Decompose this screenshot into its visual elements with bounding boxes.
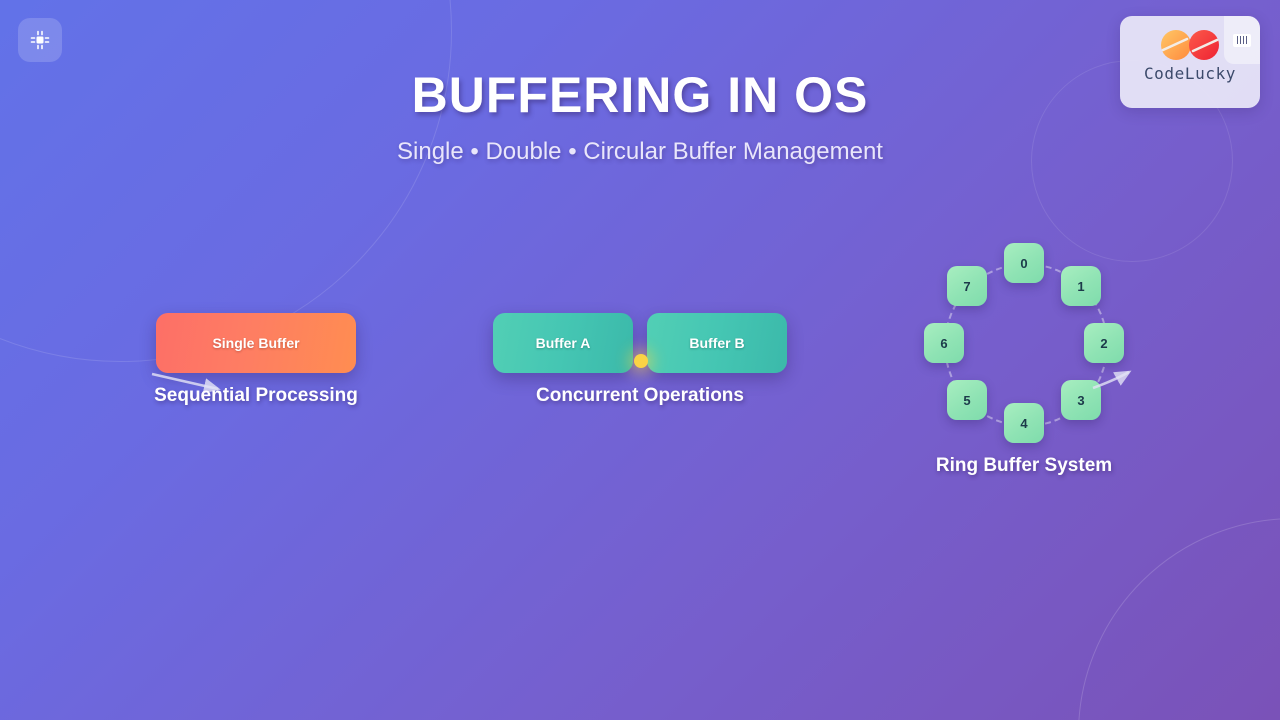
brand-corner-chip [1224, 16, 1260, 64]
cpu-chip-icon [27, 27, 53, 53]
buffer-b-block[interactable]: Buffer B [647, 313, 787, 373]
page-subtitle: Single • Double • Circular Buffer Manage… [0, 138, 1280, 166]
background-circle-top-left [0, 0, 452, 362]
single-buffer-label: Single Buffer [212, 335, 299, 351]
ring-cell[interactable]: 1 [1061, 266, 1101, 306]
single-buffer-block[interactable]: Single Buffer [156, 313, 356, 373]
sync-dot [634, 354, 648, 368]
barcode-icon [1233, 34, 1251, 47]
ring-cell[interactable]: 2 [1084, 323, 1124, 363]
ring-buffer-group: 0 1 2 3 4 5 6 7 [924, 243, 1124, 443]
buffer-a-label: Buffer A [536, 335, 591, 351]
ring-cell[interactable]: 5 [947, 380, 987, 420]
background-circle-bottom-right [1078, 518, 1280, 720]
infinity-icon [1157, 28, 1223, 62]
page-title: BUFFERING IN OS [0, 66, 1280, 124]
single-buffer-caption: Sequential Processing [116, 385, 396, 407]
ring-cell[interactable]: 7 [947, 266, 987, 306]
ring-cell[interactable]: 4 [1004, 403, 1044, 443]
buffer-b-label: Buffer B [689, 335, 744, 351]
ring-cell[interactable]: 6 [924, 323, 964, 363]
double-buffer-caption: Concurrent Operations [500, 385, 780, 407]
ring-buffer-caption: Ring Buffer System [904, 455, 1144, 477]
ring-cell[interactable]: 3 [1061, 380, 1101, 420]
slide-canvas: CodeLucky BUFFERING IN OS Single • Doubl… [0, 0, 1280, 720]
ring-cell[interactable]: 0 [1004, 243, 1044, 283]
buffer-a-block[interactable]: Buffer A [493, 313, 633, 373]
cpu-chip-badge[interactable] [18, 18, 62, 62]
